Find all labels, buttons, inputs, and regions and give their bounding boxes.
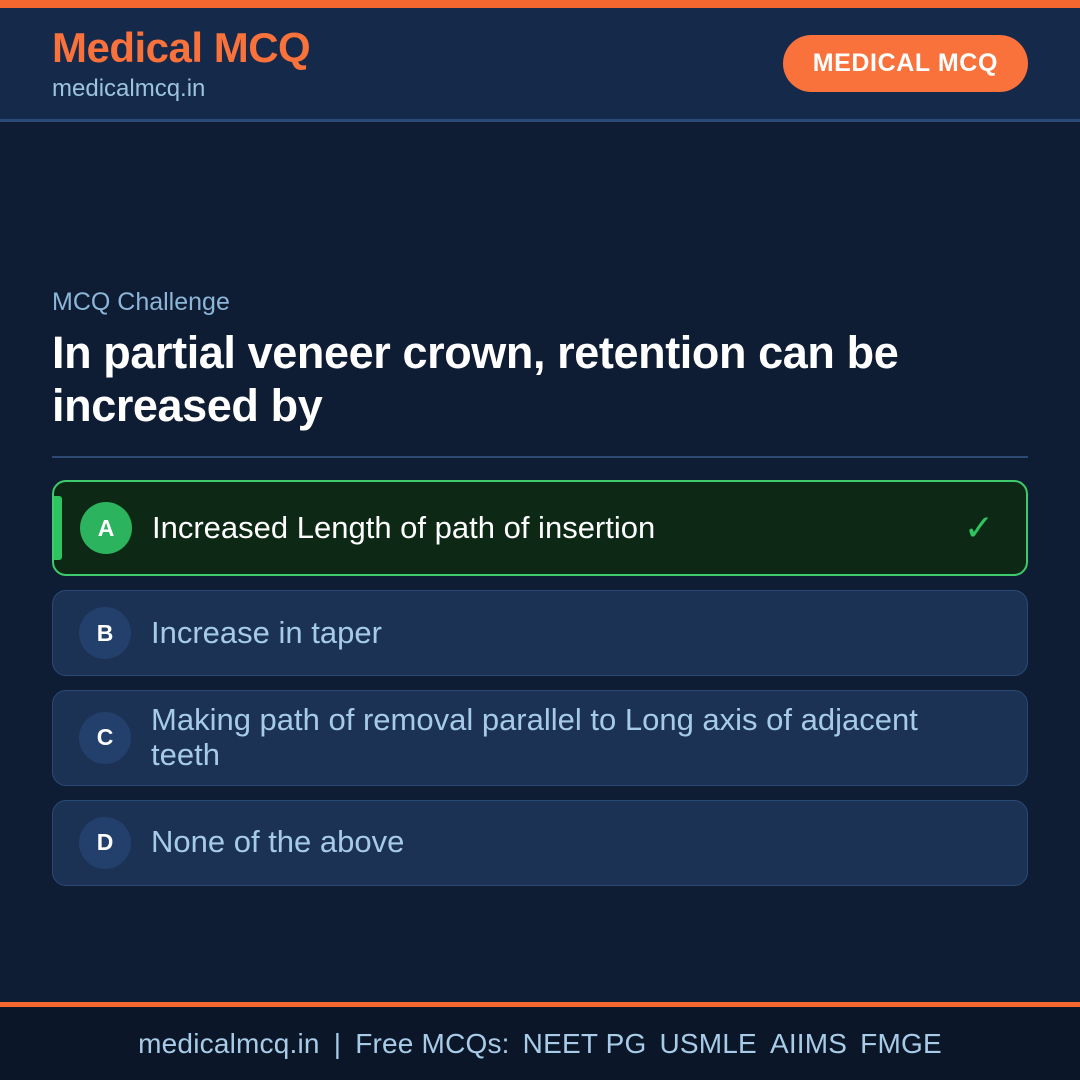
footer-site: medicalmcq.in <box>138 1028 320 1059</box>
option-d-badge: D <box>79 817 131 869</box>
footer-exam-fmge: FMGE <box>847 1028 942 1059</box>
option-c-badge: C <box>79 712 131 764</box>
option-b[interactable]: B Increase in taper ✓ <box>52 590 1028 676</box>
option-d[interactable]: D None of the above ✓ <box>52 800 1028 886</box>
check-icon: ✓ <box>956 510 1002 546</box>
footer-label: Free MCQs: <box>355 1028 509 1059</box>
footer-text: medicalmcq.in|Free MCQs:NEET PGUSMLEAIIM… <box>138 1028 942 1060</box>
options-list: A Increased Length of path of insertion … <box>52 480 1028 885</box>
option-a-text: Increased Length of path of insertion <box>152 511 956 546</box>
footer-exam-usmle: USMLE <box>646 1028 756 1059</box>
brand-title: Medical MCQ <box>52 25 310 70</box>
brand-subtitle: medicalmcq.in <box>52 76 310 102</box>
eyebrow-label: MCQ Challenge <box>52 287 1028 317</box>
option-a[interactable]: A Increased Length of path of insertion … <box>52 480 1028 576</box>
option-c[interactable]: C Making path of removal parallel to Lon… <box>52 690 1028 785</box>
footer: medicalmcq.in|Free MCQs:NEET PGUSMLEAIIM… <box>0 1002 1080 1080</box>
question-text: In partial veneer crown, retention can b… <box>52 326 1028 432</box>
option-b-text: Increase in taper <box>151 616 957 651</box>
top-accent-bar <box>0 0 1080 8</box>
header: Medical MCQ medicalmcq.in MEDICAL MCQ <box>0 8 1080 122</box>
header-badge: MEDICAL MCQ <box>783 35 1028 92</box>
footer-exam-neetpg: NEET PG <box>510 1028 647 1059</box>
question-block: MCQ Challenge In partial veneer crown, r… <box>52 287 1028 432</box>
option-a-badge: A <box>80 502 132 554</box>
footer-exam-aiims: AIIMS <box>757 1028 847 1059</box>
option-b-badge: B <box>79 607 131 659</box>
mcq-card: Medical MCQ medicalmcq.in MEDICAL MCQ MC… <box>0 0 1080 1080</box>
option-d-text: None of the above <box>151 825 957 860</box>
footer-separator: | <box>320 1028 355 1059</box>
content-area: MCQ Challenge In partial veneer crown, r… <box>0 122 1080 1002</box>
brand: Medical MCQ medicalmcq.in <box>52 25 310 103</box>
option-c-text: Making path of removal parallel to Long … <box>151 703 957 772</box>
question-divider <box>52 456 1028 458</box>
